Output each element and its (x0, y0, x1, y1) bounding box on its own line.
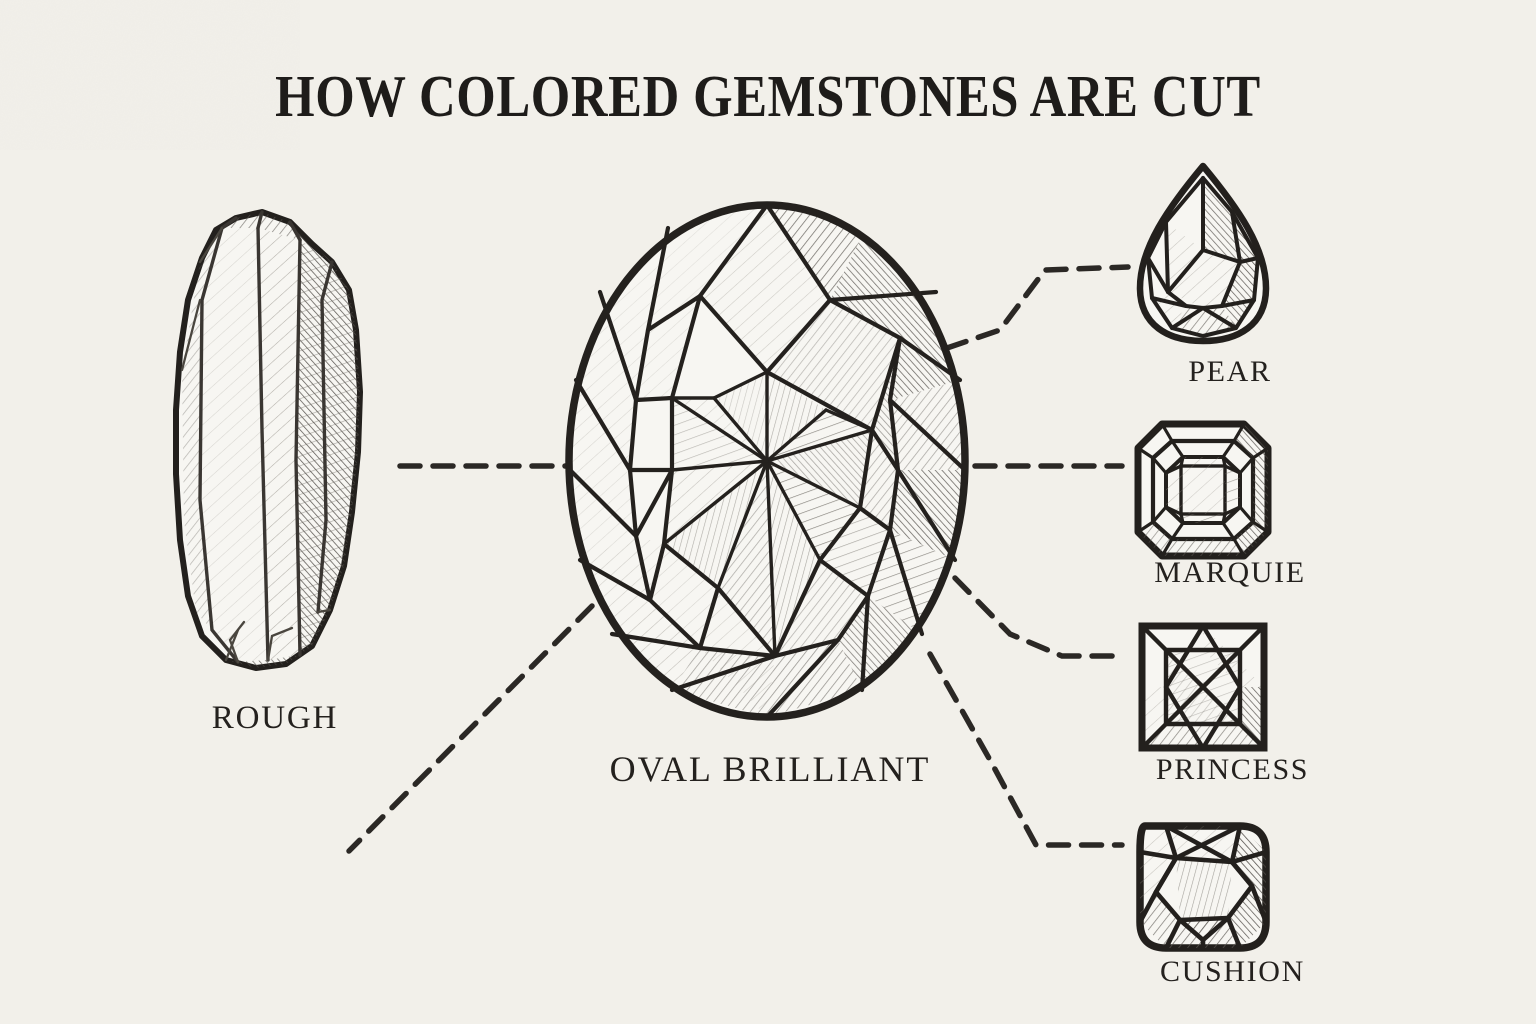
illustration-canvas: HOW COLORED GEMSTONES ARE CUT ROUGH OVAL… (0, 0, 1536, 1024)
page-title: HOW COLORED GEMSTONES ARE CUT (108, 62, 1429, 131)
gemstone-diagram (0, 0, 1536, 1024)
label-princess: PRINCESS (1060, 753, 1405, 787)
cushion-cut-illustration (1140, 826, 1266, 948)
label-marquie: MARQUIE (1055, 556, 1405, 590)
label-oval-brilliant: OVAL BRILLIANT (540, 748, 1000, 790)
oval-brilliant-illustration (569, 205, 965, 717)
label-rough: ROUGH (120, 700, 430, 737)
princess-cut-illustration (1142, 626, 1264, 748)
label-pear: PEAR (1090, 355, 1370, 389)
rough-stone-illustration (176, 212, 360, 668)
connector-oval-to-pear (947, 267, 1128, 348)
pear-cut-illustration (1140, 166, 1266, 341)
marquie-cut-illustration (1138, 424, 1268, 556)
label-cushion: CUSHION (1060, 955, 1405, 989)
